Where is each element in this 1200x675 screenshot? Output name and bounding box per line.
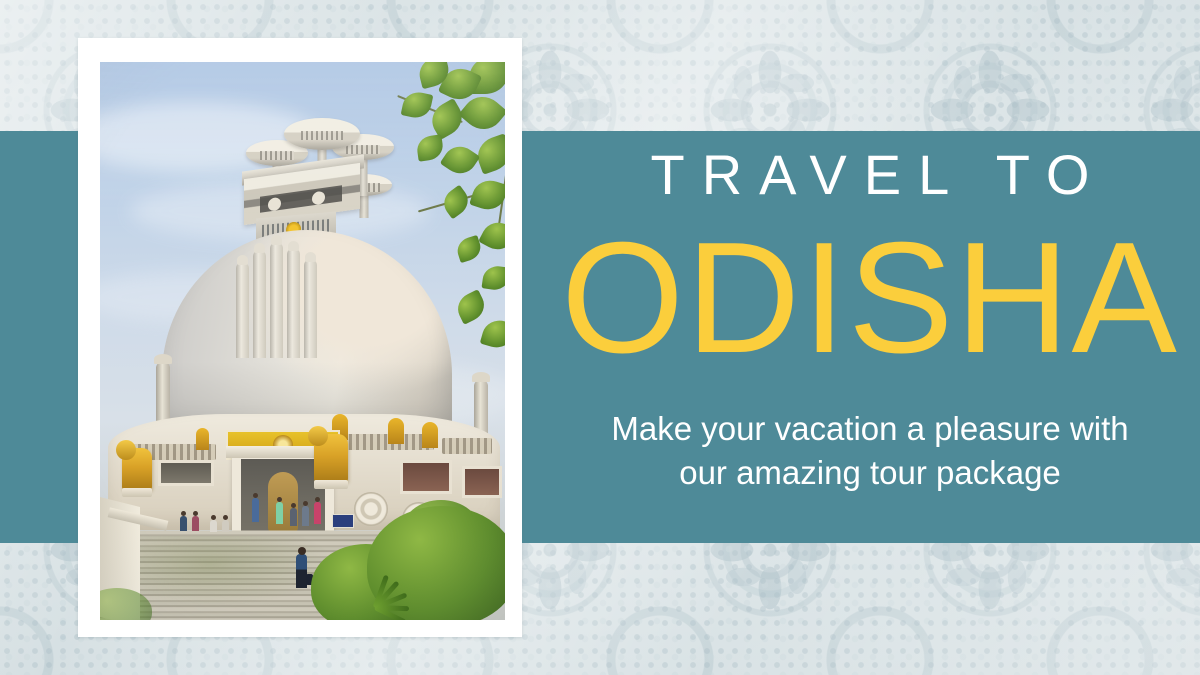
information-sign [332, 514, 354, 528]
leaf [415, 134, 444, 161]
leaf [440, 140, 481, 180]
buddha-relief-niche [388, 418, 404, 444]
leaf [426, 98, 469, 140]
golden-lion-statue [122, 448, 152, 490]
golden-lion-statue [314, 434, 348, 482]
tree-foliage [345, 62, 505, 382]
leaf [438, 185, 473, 220]
relief-panel [400, 460, 452, 494]
visitor-figure [290, 508, 297, 526]
leaf [478, 217, 505, 256]
kicker-text: TRAVEL TO [634, 147, 1107, 203]
visitor-figure [210, 520, 217, 532]
poster-copy-block: TRAVEL TO ODISHA Make your vacation a pl… [540, 131, 1200, 543]
visitor-figure [276, 502, 283, 524]
leaf [480, 316, 505, 351]
tagline-text: Make your vacation a pleasure with our a… [611, 407, 1128, 495]
visitor-figure [302, 506, 309, 526]
travel-poster: TRAVEL TO ODISHA Make your vacation a pl… [0, 0, 1200, 675]
palm-fronds [345, 564, 409, 614]
visitor-figure [180, 516, 187, 531]
leaf [453, 289, 490, 325]
stone-frieze [442, 438, 492, 454]
buddha-relief-niche [422, 422, 438, 448]
photo-frame-card [78, 38, 522, 637]
visitor-figure [252, 498, 259, 522]
dome-rib-columns [236, 238, 322, 358]
visitor-figure [192, 516, 199, 531]
headline-destination: ODISHA [561, 219, 1179, 377]
visitor-figure [222, 520, 229, 532]
buddha-relief-niche [196, 428, 209, 450]
relief-panel [158, 460, 214, 486]
leaf [481, 264, 505, 291]
leaf [401, 89, 434, 120]
stupa-photograph [100, 62, 505, 620]
visitor-figure [314, 502, 321, 524]
